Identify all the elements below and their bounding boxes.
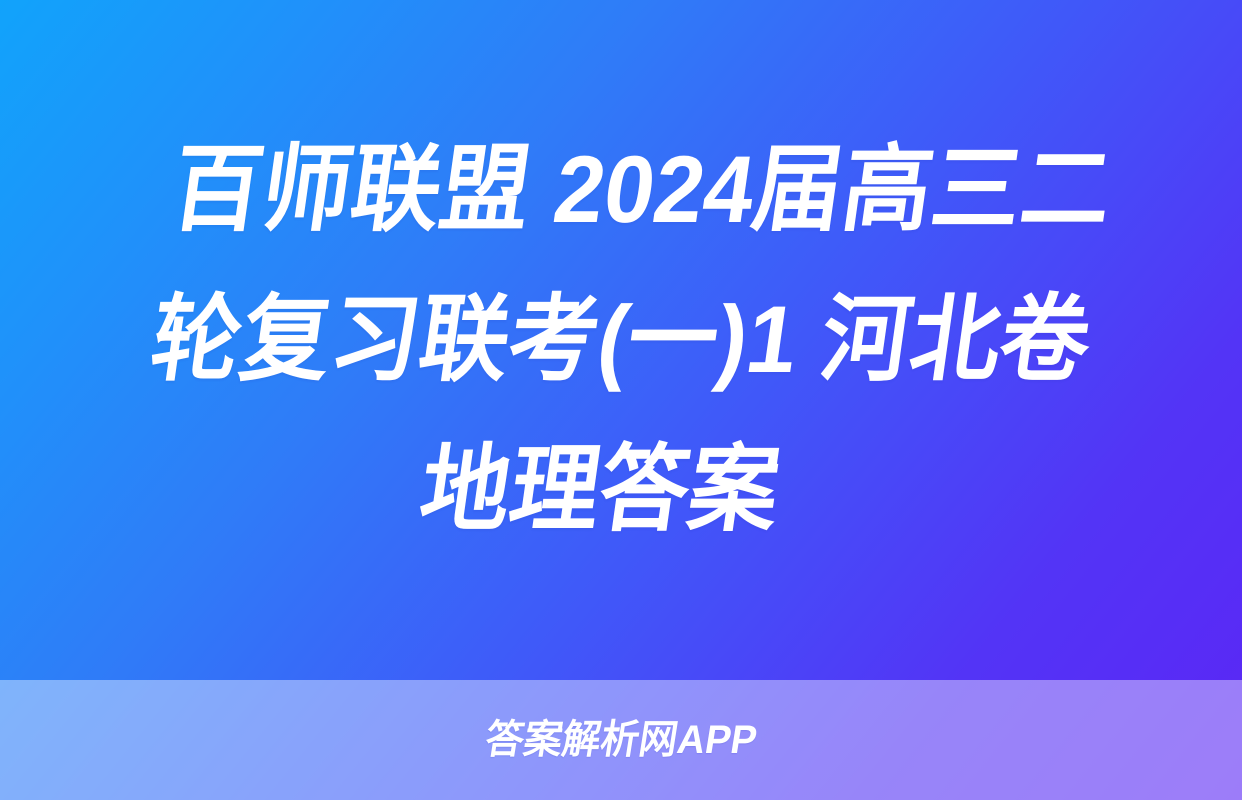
headline-region: 百师联盟 2024届高三二轮复习联考(一)1 河北卷地理答案 <box>0 0 1242 680</box>
footer-watermark-text: 答案解析网APP <box>482 720 759 760</box>
page-title: 百师联盟 2024届高三二轮复习联考(一)1 河北卷地理答案 <box>82 115 1160 565</box>
answer-cover-screen: 百师联盟 2024届高三二轮复习联考(一)1 河北卷地理答案 答案解析网APP <box>0 0 1242 800</box>
footer-watermark-band: 答案解析网APP <box>0 680 1242 800</box>
